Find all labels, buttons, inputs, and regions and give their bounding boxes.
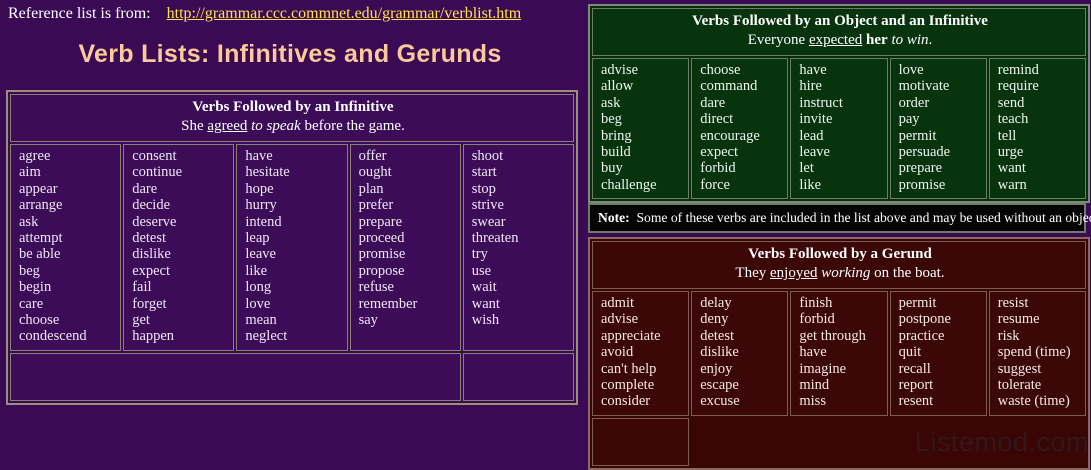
object-example-post: . [929,32,933,48]
verb-item: dare [700,95,781,111]
verb-item: leave [245,246,340,262]
verb-item: leap [245,230,340,246]
verb-item: require [998,78,1079,94]
verb-item: leave [799,144,880,160]
verb-list: agreeaimappeararrangeaskattemptbe ablebe… [19,148,114,345]
gerund-example-pre: They [735,265,770,281]
gerund-column-3: finishforbidget throughhaveimaginemindmi… [790,291,887,416]
verb-item: dare [132,181,227,197]
verb-item: teach [998,111,1079,127]
verb-item: command [700,78,781,94]
gerund-title: Verbs Followed by a Gerund [601,245,1079,264]
verb-list: admitadviseappreciateavoidcan't helpcomp… [601,295,682,410]
verb-item: detest [700,328,781,344]
verb-item: suggest [998,361,1079,377]
verb-item: quit [899,344,980,360]
infinitive-table: Verbs Followed by an Infinitive She agre… [6,90,578,405]
verb-item: appreciate [601,328,682,344]
verb-list: finishforbidget throughhaveimaginemindmi… [799,295,880,410]
verb-item: report [899,377,980,393]
verb-item: consider [601,393,682,409]
verb-list: permitpostponepracticequitrecallreportre… [899,295,980,410]
verb-item: force [700,177,781,193]
note-label: Note: [598,210,630,225]
infinitive-column-3: havehesitatehopehurryintendleapleavelike… [236,144,347,351]
infinitive-example-pre: She [181,118,207,134]
verb-item: tolerate [998,377,1079,393]
verb-item: try [472,246,567,262]
infinitive-column-5: shootstartstopstriveswearthreatentryusew… [463,144,574,351]
verb-item: miss [799,393,880,409]
object-infinitive-column-2: choosecommanddaredirectencourageexpectfo… [691,58,788,199]
verb-item: long [245,279,340,295]
verb-item: get [132,312,227,328]
verb-item: recall [899,361,980,377]
verb-item: forbid [700,160,781,176]
verb-item: remember [359,296,454,312]
verb-item: waste (time) [998,393,1079,409]
infinitive-example-underlined: agreed [207,118,247,134]
gerund-header-row: Verbs Followed by a Gerund They enjoyed … [592,241,1086,289]
verb-item: let [799,160,880,176]
gerund-example-post: on the boat. [870,265,944,281]
verb-list: offeroughtplanpreferprepareproceedpromis… [359,148,454,328]
verb-item: challenge [601,177,682,193]
verb-item: have [245,148,340,164]
object-infinitive-column-5: remindrequiresendteachtellurgewantwarn [989,58,1086,199]
verb-item: order [899,95,980,111]
verb-item: promise [359,246,454,262]
verb-item: like [245,263,340,279]
infinitive-column-4: offeroughtplanpreferprepareproceedpromis… [350,144,461,351]
object-infinitive-table: Verbs Followed by an Object and an Infin… [588,4,1090,203]
verb-item: can't help [601,361,682,377]
gerund-example: They enjoyed working on the boat. [601,264,1079,283]
verb-item: build [601,144,682,160]
verb-item: enjoy [700,361,781,377]
verb-item: spend (time) [998,344,1079,360]
verb-item: attempt [19,230,114,246]
infinitive-header-cell: Verbs Followed by an Infinitive She agre… [10,94,574,142]
infinitive-empty-cell-wide [10,353,461,401]
verb-list: lovemotivateorderpaypermitpersuadeprepar… [899,62,980,193]
verb-item: offer [359,148,454,164]
infinitive-column-2: consentcontinuedaredecidedeservedetestdi… [123,144,234,351]
verb-item: imagine [799,361,880,377]
verb-item: permit [899,128,980,144]
verb-item: direct [700,111,781,127]
verb-item: proceed [359,230,454,246]
object-infinitive-header-cell: Verbs Followed by an Object and an Infin… [592,8,1086,56]
verb-item: ought [359,164,454,180]
verb-item: advise [601,62,682,78]
verb-item: urge [998,144,1079,160]
verb-item: swear [472,214,567,230]
verb-item: wait [472,279,567,295]
verb-item: consent [132,148,227,164]
verb-item: deny [700,311,781,327]
verb-item: hesitate [245,164,340,180]
verb-item: shoot [472,148,567,164]
verb-list: delaydenydetestdislikeenjoyescapeexcuse [700,295,781,410]
object-infinitive-column-1: adviseallowaskbegbringbuildbuychallenge [592,58,689,199]
verb-item: mind [799,377,880,393]
verb-item: expect [132,263,227,279]
verb-item: dislike [700,344,781,360]
verb-item: say [359,312,454,328]
verb-item: be able [19,246,114,262]
gerund-table: Verbs Followed by a Gerund They enjoyed … [588,237,1090,470]
verb-item: plan [359,181,454,197]
verb-item: beg [19,263,114,279]
verb-item: deserve [132,214,227,230]
verb-item: pay [899,111,980,127]
verb-item: hurry [245,197,340,213]
gerund-column-4: permitpostponepracticequitrecallreportre… [890,291,987,416]
infinitive-column-1: agreeaimappeararrangeaskattemptbe ablebe… [10,144,121,351]
verb-item: propose [359,263,454,279]
gerund-column-1: admitadviseappreciateavoidcan't helpcomp… [592,291,689,416]
verb-item: love [899,62,980,78]
page-title: Verb Lists: Infinitives and Gerunds [0,40,580,69]
verb-list: resistresumeriskspend (time)suggesttoler… [998,295,1079,410]
verb-item: advise [601,311,682,327]
infinitive-empty-cell-narrow [463,353,574,401]
verb-item: stop [472,181,567,197]
verb-item: intend [245,214,340,230]
verb-item: ask [19,214,114,230]
verb-item: refuse [359,279,454,295]
verb-list: remindrequiresendteachtellurgewantwarn [998,62,1079,193]
verb-item: risk [998,328,1079,344]
verb-item: have [799,344,880,360]
verb-item: prepare [359,214,454,230]
verb-item: like [799,177,880,193]
verb-list: havehesitatehopehurryintendleapleavelike… [245,148,340,345]
verb-item: forbid [799,311,880,327]
verb-item: finish [799,295,880,311]
object-example-pre: Everyone [748,32,809,48]
infinitive-example-italic: to speak [247,118,300,134]
verb-item: buy [601,160,682,176]
verb-item: resent [899,393,980,409]
verb-item: care [19,296,114,312]
verb-item: motivate [899,78,980,94]
verb-item: happen [132,328,227,344]
object-infinitive-header-row: Verbs Followed by an Object and an Infin… [592,8,1086,56]
verb-item: send [998,95,1079,111]
verb-list: consentcontinuedaredecidedeservedetestdi… [132,148,227,345]
verb-item: escape [700,377,781,393]
verb-item: want [998,160,1079,176]
verb-item: love [245,296,340,312]
verb-item: avoid [601,344,682,360]
verb-item: persuade [899,144,980,160]
verb-item: choose [700,62,781,78]
infinitive-body-row: agreeaimappeararrangeaskattemptbe ablebe… [10,144,574,351]
gerund-empty-row [592,418,1086,466]
reference-link[interactable]: http://grammar.ccc.commnet.edu/grammar/v… [167,5,522,22]
infinitive-example: She agreed to speak before the game. [19,117,567,136]
verb-item: postpone [899,311,980,327]
verb-item: dislike [132,246,227,262]
verb-item: delay [700,295,781,311]
gerund-header-cell: Verbs Followed by a Gerund They enjoyed … [592,241,1086,289]
verb-item: beg [601,111,682,127]
infinitive-example-post: before the game. [301,118,405,134]
left-column: Reference list is from: http://grammar.c… [0,0,580,456]
object-example-underlined: expected [809,32,862,48]
verb-item: complete [601,377,682,393]
object-infinitive-column-3: havehireinstructinviteleadleaveletlike [790,58,887,199]
infinitive-empty-row [10,353,574,401]
verb-item: tell [998,128,1079,144]
object-example-italic: to win [888,32,929,48]
verb-list: choosecommanddaredirectencourageexpectfo… [700,62,781,193]
object-infinitive-body-row: adviseallowaskbegbringbuildbuychallenge … [592,58,1086,199]
verb-item: aim [19,164,114,180]
verb-item: strive [472,197,567,213]
verb-item: promise [899,177,980,193]
note-text: Some of these verbs are included in the … [637,210,1091,225]
verb-item: ask [601,95,682,111]
verb-item: invite [799,111,880,127]
verb-item: resist [998,295,1079,311]
verb-item: prepare [899,160,980,176]
reference-label: Reference list is from: [8,5,151,22]
verb-item: wish [472,312,567,328]
verb-item: threaten [472,230,567,246]
object-infinitive-title: Verbs Followed by an Object and an Infin… [601,12,1079,31]
verb-item: hire [799,78,880,94]
gerund-table-grid: Verbs Followed by a Gerund They enjoyed … [590,239,1088,468]
gerund-example-italic: working [817,265,870,281]
verb-lists-page: Reference list is from: http://grammar.c… [0,0,1091,456]
verb-item: fail [132,279,227,295]
verb-item: forget [132,296,227,312]
verb-item: admit [601,295,682,311]
verb-item: excuse [700,393,781,409]
verb-item: continue [132,164,227,180]
verb-item: hope [245,181,340,197]
verb-item: bring [601,128,682,144]
verb-item: detest [132,230,227,246]
object-infinitive-column-4: lovemotivateorderpaypermitpersuadeprepar… [890,58,987,199]
verb-item: have [799,62,880,78]
verb-item: start [472,164,567,180]
verb-item: arrange [19,197,114,213]
note-box: Note: Some of these verbs are included i… [588,203,1086,233]
verb-item: appear [19,181,114,197]
verb-item: mean [245,312,340,328]
gerund-column-5: resistresumeriskspend (time)suggesttoler… [989,291,1086,416]
object-infinitive-table-grid: Verbs Followed by an Object and an Infin… [590,6,1088,201]
verb-item: condescend [19,328,114,344]
verb-item: use [472,263,567,279]
verb-list: shootstartstopstriveswearthreatentryusew… [472,148,567,328]
verb-item: decide [132,197,227,213]
verb-item: resume [998,311,1079,327]
verb-item: get through [799,328,880,344]
object-example-bold: her [862,32,887,48]
infinitive-table-grid: Verbs Followed by an Infinitive She agre… [8,92,576,403]
verb-item: agree [19,148,114,164]
infinitive-header-row: Verbs Followed by an Infinitive She agre… [10,94,574,142]
gerund-column-2: delaydenydetestdislikeenjoyescapeexcuse [691,291,788,416]
verb-item: instruct [799,95,880,111]
gerund-example-underlined: enjoyed [770,265,817,281]
verb-item: lead [799,128,880,144]
verb-item: remind [998,62,1079,78]
gerund-body-row: admitadviseappreciateavoidcan't helpcomp… [592,291,1086,416]
verb-item: prefer [359,197,454,213]
object-infinitive-example: Everyone expected her to win. [601,31,1079,50]
verb-item: want [472,296,567,312]
verb-item: neglect [245,328,340,344]
infinitive-title: Verbs Followed by an Infinitive [19,98,567,117]
verb-item: expect [700,144,781,160]
gerund-empty-cell-wide [691,418,1086,466]
verb-item: allow [601,78,682,94]
verb-item: practice [899,328,980,344]
verb-list: adviseallowaskbegbringbuildbuychallenge [601,62,682,193]
verb-item: permit [899,295,980,311]
verb-item: warn [998,177,1079,193]
verb-item: begin [19,279,114,295]
reference-line: Reference list is from: http://grammar.c… [8,5,521,23]
gerund-empty-cell [592,418,689,466]
verb-list: havehireinstructinviteleadleaveletlike [799,62,880,193]
verb-item: choose [19,312,114,328]
verb-item: encourage [700,128,781,144]
